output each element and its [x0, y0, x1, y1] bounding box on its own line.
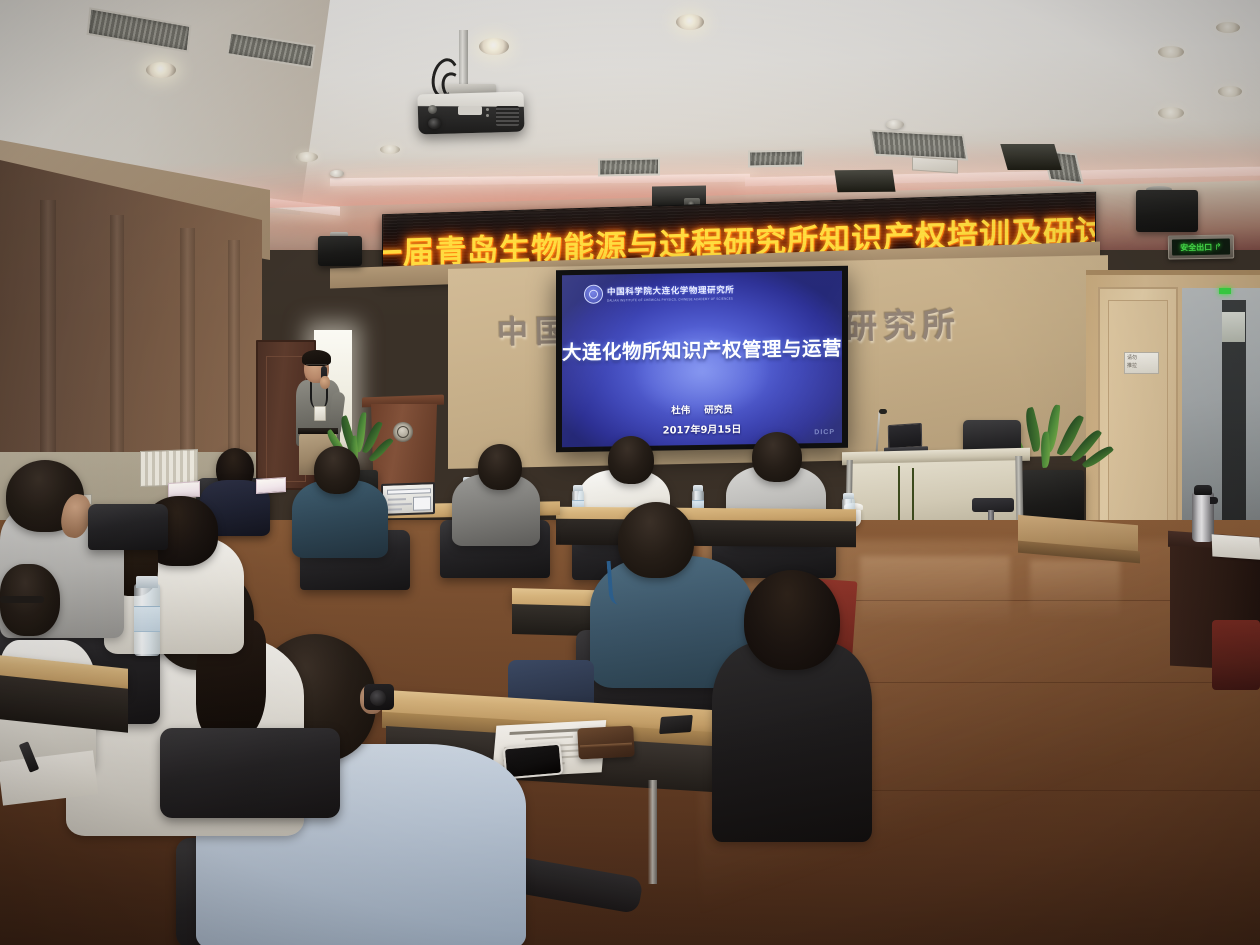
- downlight: [380, 145, 400, 154]
- plant-reflection: [1030, 560, 1120, 620]
- projector-display-panel[interactable]: [458, 106, 482, 115]
- door-sign-line1: 请勿: [1127, 355, 1156, 363]
- speaker-hand: [320, 376, 330, 389]
- presenter-laptop-screen[interactable]: [888, 423, 922, 449]
- downlight: [146, 62, 176, 78]
- slide-title: 大连化物所知识产权管理与运营: [562, 332, 842, 365]
- wall-speaker: [318, 236, 362, 266]
- slide-surface: 中国科学院大连化学物理研究所 DALIAN INSTITUTE OF CHEMI…: [562, 271, 842, 447]
- downlight: [1218, 86, 1242, 97]
- audience-torso: [712, 642, 872, 842]
- projection-screen: 中国科学院大连化学物理研究所 DALIAN INSTITUTE OF CHEMI…: [556, 266, 848, 453]
- emergency-exit-sign: 安全出口 ↱: [1168, 234, 1234, 259]
- ceiling-speaker: [834, 170, 895, 192]
- ceiling-speaker: [1000, 144, 1061, 170]
- name-placard: [256, 477, 286, 494]
- microphone-head-icon: [879, 409, 887, 414]
- thermos-cap[interactable]: [1194, 485, 1212, 495]
- wall-speaker: [1136, 190, 1198, 232]
- projector-lens: [428, 118, 441, 129]
- audience-head: [314, 446, 360, 494]
- red-chair[interactable]: [1212, 620, 1260, 690]
- projector-control-knob[interactable]: [428, 105, 437, 114]
- projector-vent: [496, 106, 519, 126]
- audience-head: [478, 444, 522, 490]
- downlight: [1158, 46, 1184, 58]
- downlight: [1158, 107, 1184, 119]
- audience-head: [744, 570, 840, 670]
- audience-head: [752, 432, 802, 482]
- bottle-label: [134, 606, 160, 632]
- conference-room-photo: 第一届青岛生物能源与过程研究所知识产权培训及研讨会 中国科 研究所 中国科学院大…: [0, 0, 1260, 945]
- door-notice-sign: 请勿 推拉: [1124, 352, 1159, 374]
- exit-arrow-icon: ↱: [1214, 242, 1222, 251]
- presenter-name: 杜伟: [671, 405, 690, 416]
- desk-front-panel: [556, 519, 856, 548]
- desk-cable-grommet: [659, 715, 693, 734]
- downlight: [1216, 22, 1240, 33]
- camera-lens-icon: [370, 690, 386, 706]
- paper-on-side-table: [1212, 534, 1260, 559]
- exit-sign-text: 安全出口: [1180, 241, 1212, 253]
- chair-back[interactable]: [160, 728, 340, 818]
- smoke-detector-icon: [886, 120, 904, 129]
- slide-presenter: 杜伟研究员: [562, 400, 842, 418]
- chair-back[interactable]: [88, 504, 168, 550]
- slide-date: 2017年9月15日: [562, 419, 842, 438]
- hvac-vent: [748, 150, 804, 168]
- door-sign-line2: 推拉: [1127, 363, 1156, 371]
- audience-head: [608, 436, 654, 484]
- slide-watermark: DICP: [814, 429, 835, 436]
- projector-led: [486, 108, 489, 111]
- downlight: [479, 38, 509, 55]
- corridor-window: [1222, 312, 1245, 342]
- wall-calligraphy-right: 研究所: [843, 298, 961, 349]
- audience-laptop[interactable]: [381, 482, 435, 516]
- bottle-cap: [136, 576, 158, 588]
- institute-seal-icon: [584, 285, 603, 304]
- id-badge: [314, 406, 326, 421]
- corridor-exit-light: [1219, 288, 1231, 294]
- slide-institution-logo: 中国科学院大连化学物理研究所 DALIAN INSTITUTE OF CHEMI…: [584, 282, 734, 303]
- presenter-rank: 研究员: [704, 405, 733, 416]
- desk-reflection: [860, 556, 1010, 626]
- hvac-vent: [598, 157, 660, 176]
- slide-logo-english: DALIAN INSTITUTE OF CHEMICAL PHYSICS, CH…: [607, 296, 734, 302]
- downlight: [676, 14, 704, 30]
- projector-led: [486, 114, 489, 117]
- slide-logo-chinese: 中国科学院大连化学物理研究所: [607, 283, 734, 297]
- downlight: [296, 152, 318, 162]
- glasses-icon: [0, 596, 44, 603]
- thermos-spout: [1210, 497, 1218, 504]
- bottle-cap: [573, 485, 583, 491]
- bottle-cap: [843, 493, 854, 499]
- institute-emblem-icon: [393, 422, 413, 442]
- smoke-detector-icon: [330, 170, 344, 177]
- desk-leg: [648, 780, 657, 884]
- bottle-cap: [693, 485, 703, 491]
- lanyard: [607, 559, 640, 605]
